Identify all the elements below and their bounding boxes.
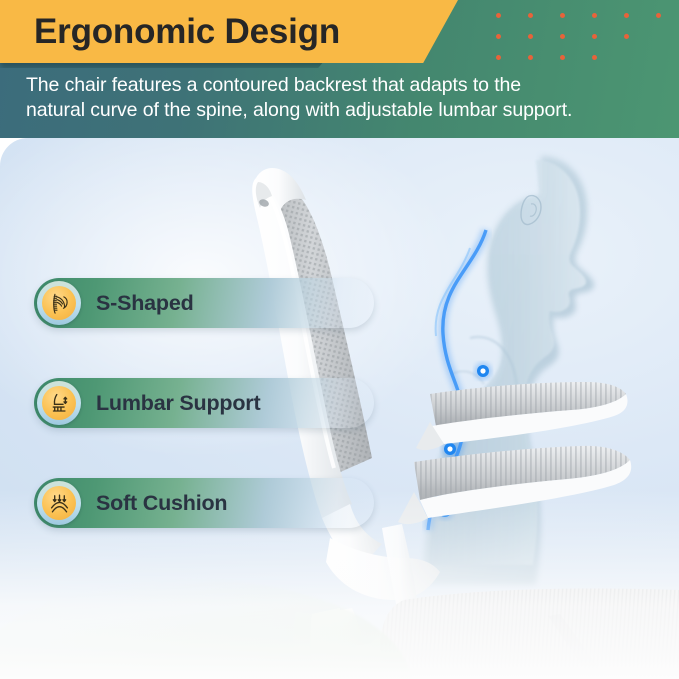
- spine-marker-dot: [475, 363, 492, 380]
- product-scene-panel: S-Shaped Lumbar Support: [0, 138, 679, 679]
- feature-badge-label: S-Shaped: [96, 291, 194, 316]
- infographic-canvas: S-Shaped Lumbar Support: [0, 0, 679, 679]
- chair-lumbar-icon: [42, 386, 76, 420]
- subtitle-line-2: natural curve of the spine, along with a…: [26, 98, 666, 123]
- header-subtitle: The chair features a contoured backrest …: [26, 73, 666, 123]
- spine-icon: [42, 286, 76, 320]
- feature-badge-label: Soft Cushion: [96, 491, 227, 516]
- feature-badge-list: S-Shaped Lumbar Support: [34, 278, 374, 578]
- feature-badge-s-shaped[interactable]: S-Shaped: [34, 278, 374, 328]
- dot-grid-decoration: [496, 13, 666, 65]
- feature-badge-soft-cushion[interactable]: Soft Cushion: [34, 478, 374, 528]
- header-band: Ergonomic Design The chair features a co…: [0, 0, 679, 138]
- feature-badge-lumbar-support[interactable]: Lumbar Support: [34, 378, 374, 428]
- page-title: Ergonomic Design: [34, 12, 340, 52]
- feature-badge-label: Lumbar Support: [96, 391, 260, 416]
- cushion-arrows-icon: [42, 486, 76, 520]
- title-plate: Ergonomic Design: [0, 0, 458, 63]
- subtitle-line-1: The chair features a contoured backrest …: [26, 73, 666, 98]
